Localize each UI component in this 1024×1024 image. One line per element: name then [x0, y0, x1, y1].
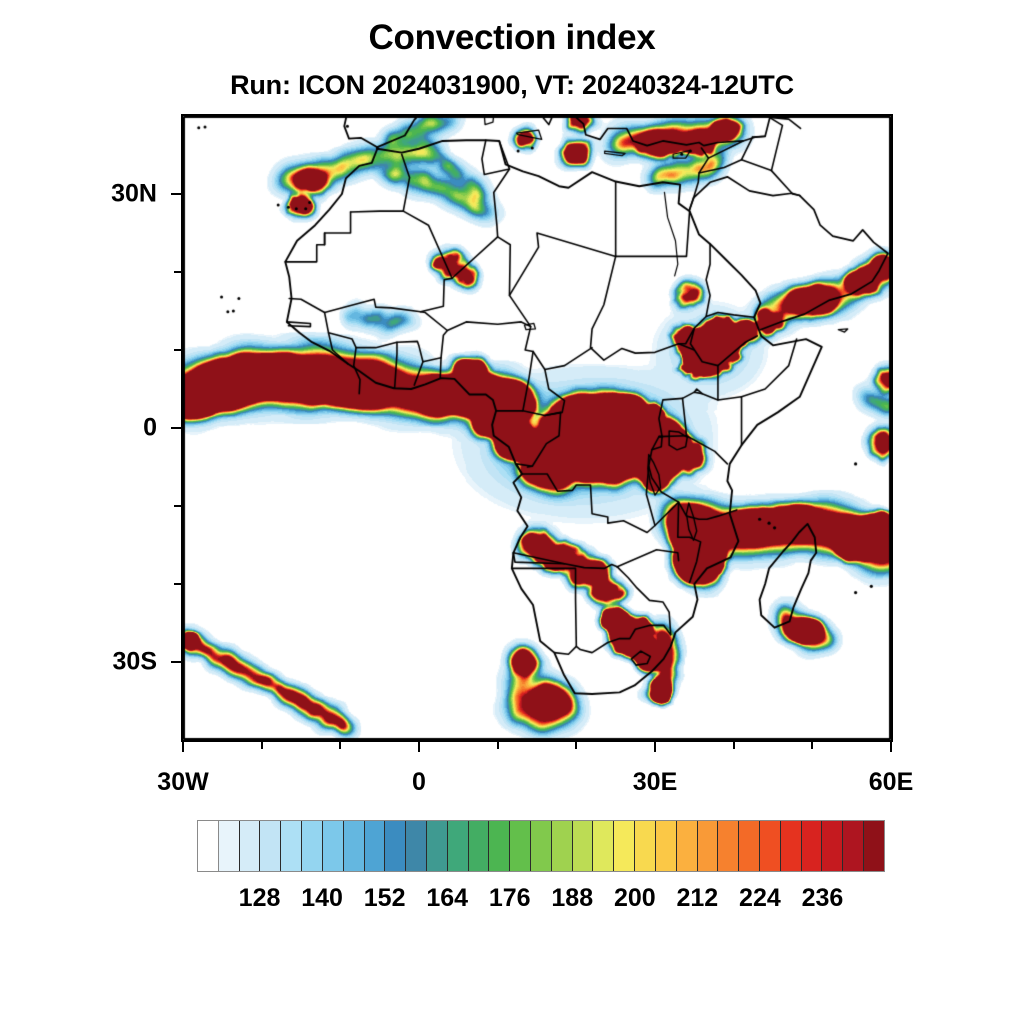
- x-tick-minor: [733, 741, 735, 749]
- colorbar-band: [822, 821, 843, 871]
- colorbar-band: [718, 821, 739, 871]
- colorbar-band: [760, 821, 781, 871]
- colorbar-tick-label: 200: [614, 884, 656, 913]
- colorbar: [197, 820, 885, 872]
- colorbar-band: [573, 821, 594, 871]
- y-tick-minor: [174, 505, 182, 507]
- colorbar-band: [802, 821, 823, 871]
- colorbar-band: [427, 821, 448, 871]
- colorbar-tick-label: 176: [489, 884, 531, 913]
- colorbar-band: [365, 821, 386, 871]
- x-tick-major: [418, 741, 420, 752]
- x-axis-label: 0: [412, 768, 426, 797]
- y-axis-label: 30N: [0, 180, 157, 209]
- y-tick-major: [171, 427, 182, 429]
- colorbar-band: [552, 821, 573, 871]
- map-plot-area: [181, 114, 893, 742]
- colorbar-band: [344, 821, 365, 871]
- y-tick-major: [171, 661, 182, 663]
- colorbar-tick-label: 212: [677, 884, 719, 913]
- colorbar-tick-label: 236: [802, 884, 844, 913]
- colorbar-band: [656, 821, 677, 871]
- colorbar-band: [406, 821, 427, 871]
- page-title: Convection index: [0, 18, 1024, 58]
- x-tick-minor: [811, 741, 813, 749]
- x-tick-minor: [339, 741, 341, 749]
- x-tick-minor: [575, 741, 577, 749]
- colorbar-band: [323, 821, 344, 871]
- y-tick-minor: [174, 583, 182, 585]
- colorbar-band: [219, 821, 240, 871]
- colorbar-band: [677, 821, 698, 871]
- colorbar-band: [739, 821, 760, 871]
- colorbar-band: [614, 821, 635, 871]
- colorbar-band: [302, 821, 323, 871]
- y-axis-label: 30S: [0, 648, 157, 677]
- x-axis-label: 30W: [157, 768, 208, 797]
- colorbar-band: [864, 821, 884, 871]
- colorbar-band: [489, 821, 510, 871]
- colorbar-tick-label: 152: [364, 884, 406, 913]
- colorbar-band: [781, 821, 802, 871]
- colorbar-band: [469, 821, 490, 871]
- colorbar-band: [281, 821, 302, 871]
- colorbar-band: [843, 821, 864, 871]
- colorbar-band: [198, 821, 219, 871]
- colorbar-band: [260, 821, 281, 871]
- colorbar-tick-label: 128: [239, 884, 281, 913]
- x-tick-minor: [497, 741, 499, 749]
- x-axis-label: 30E: [633, 768, 677, 797]
- colorbar-band: [510, 821, 531, 871]
- colorbar-band: [593, 821, 614, 871]
- colorbar-tick-label: 188: [551, 884, 593, 913]
- convection-index-figure: Convection index Run: ICON 2024031900, V…: [0, 0, 1024, 1024]
- x-tick-minor: [261, 741, 263, 749]
- y-tick-minor: [174, 349, 182, 351]
- colorbar-band: [385, 821, 406, 871]
- convection-index-raster: [183, 116, 891, 740]
- run-valid-time-subtitle: Run: ICON 2024031900, VT: 20240324-12UTC: [0, 70, 1024, 101]
- colorbar-band: [635, 821, 656, 871]
- colorbar-band: [698, 821, 719, 871]
- y-tick-major: [171, 193, 182, 195]
- x-tick-major: [654, 741, 656, 752]
- y-axis-label: 0: [0, 414, 157, 443]
- y-tick-minor: [174, 271, 182, 273]
- x-tick-major: [182, 741, 184, 752]
- colorbar-tick-label: 140: [301, 884, 343, 913]
- colorbar-band: [531, 821, 552, 871]
- colorbar-band: [240, 821, 261, 871]
- colorbar-tick-label: 224: [739, 884, 781, 913]
- colorbar-tick-label: 164: [426, 884, 468, 913]
- x-tick-major: [890, 741, 892, 752]
- colorbar-band: [448, 821, 469, 871]
- x-axis-label: 60E: [869, 768, 913, 797]
